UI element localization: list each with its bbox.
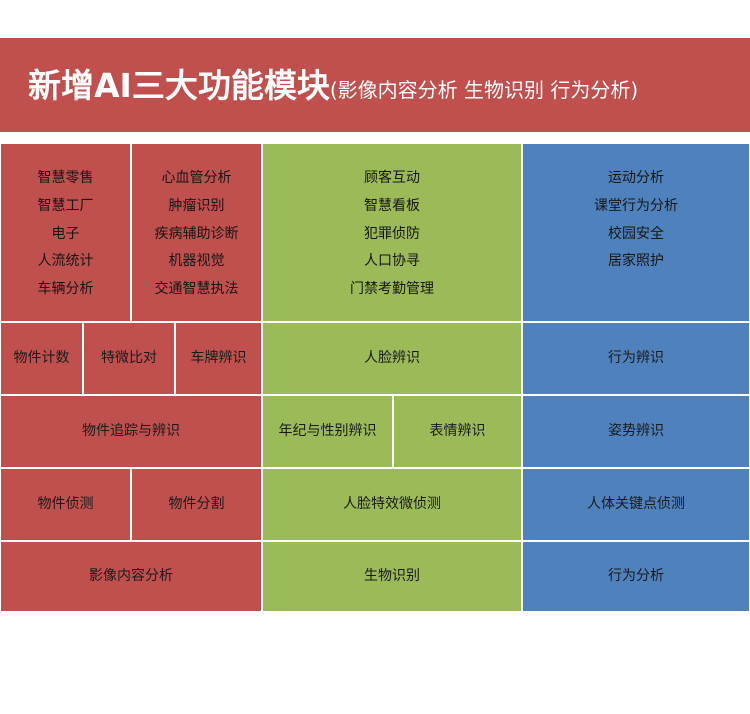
list-item: 运动分析 [608,170,664,187]
cell-face-micro-detection: 人脸特效微侦测 [262,468,522,541]
grid-row-categories: 影像内容分析 生物识别 行为分析 [0,541,750,612]
list-item: 智慧工厂 [38,198,94,215]
cell-license-plate-recognition: 车牌辨识 [175,322,262,395]
cell-object-segmentation: 物件分割 [131,468,262,541]
list-item: 门禁考勤管理 [350,281,434,298]
cell-object-detection: 物件侦测 [0,468,131,541]
cell-expression-recognition: 表情辨识 [393,395,522,468]
list-item: 车辆分析 [38,281,94,298]
segment-green-level-3: 年纪与性别辨识 表情辨识 [262,395,522,468]
cell-red-applications-col2: 心血管分析 肿瘤识别 疾病辅助诊断 机器视觉 交通智慧执法 [131,143,262,322]
segment-blue-category: 行为分析 [522,541,750,612]
header-banner: 新增AI三大功能模块 (影像内容分析 生物识别 行为分析) [0,38,750,132]
list-item: 机器视觉 [169,253,225,270]
list-item: 交通智慧执法 [155,281,239,298]
segment-green-level-4: 人脸特效微侦测 [262,468,522,541]
segment-blue-level-3: 姿势辨识 [522,395,750,468]
ai-modules-infographic: 新增AI三大功能模块 (影像内容分析 生物识别 行为分析) 智慧零售 智慧工厂 … [0,0,750,714]
segment-red-level-3: 物件追踪与辨识 [0,395,262,468]
grid-row-level-2: 物件计数 特微比对 车牌辨识 人脸辨识 行为辨识 [0,322,750,395]
modules-grid: 智慧零售 智慧工厂 电子 人流统计 车辆分析 心血管分析 肿瘤识别 疾病辅助诊断… [0,143,750,612]
list-item: 顾客互动 [364,170,420,187]
segment-red-level-4: 物件侦测 物件分割 [0,468,262,541]
cell-posture-recognition: 姿势辨识 [522,395,750,468]
segment-blue-level-2: 行为辨识 [522,322,750,395]
cell-red-applications-col1: 智慧零售 智慧工厂 电子 人流统计 车辆分析 [0,143,131,322]
cell-body-keypoint-detection: 人体关键点侦测 [522,468,750,541]
grid-row-applications: 智慧零售 智慧工厂 电子 人流统计 车辆分析 心血管分析 肿瘤识别 疾病辅助诊断… [0,143,750,322]
cell-age-gender-recognition: 年纪与性别辨识 [262,395,393,468]
category-biometric-recognition: 生物识别 [262,541,522,612]
list-item: 智慧零售 [38,170,94,187]
segment-red-level-2: 物件计数 特微比对 车牌辨识 [0,322,262,395]
segment-green-applications: 顾客互动 智慧看板 犯罪侦防 人口协寻 门禁考勤管理 [262,143,522,322]
grid-row-level-4: 物件侦测 物件分割 人脸特效微侦测 人体关键点侦测 [0,468,750,541]
cell-blue-applications: 运动分析 课堂行为分析 校园安全 居家照护 [522,143,750,322]
header-main-title: 新增AI三大功能模块 [28,69,330,102]
cell-object-tracking-recognition: 物件追踪与辨识 [0,395,262,468]
list-item: 心血管分析 [162,170,232,187]
cell-face-recognition: 人脸辨识 [262,322,522,395]
segment-red-category: 影像内容分析 [0,541,262,612]
segment-blue-applications: 运动分析 课堂行为分析 校园安全 居家照护 [522,143,750,322]
list-item: 犯罪侦防 [364,226,420,243]
category-image-content-analysis: 影像内容分析 [0,541,262,612]
list-item: 疾病辅助诊断 [155,226,239,243]
segment-green-level-2: 人脸辨识 [262,322,522,395]
list-item: 人口协寻 [364,253,420,270]
segment-red-applications: 智慧零售 智慧工厂 电子 人流统计 车辆分析 心血管分析 肿瘤识别 疾病辅助诊断… [0,143,262,322]
segment-blue-level-4: 人体关键点侦测 [522,468,750,541]
list-item: 电子 [52,226,80,243]
list-item: 智慧看板 [364,198,420,215]
list-item: 居家照护 [608,253,664,270]
header-sub-title: (影像内容分析 生物识别 行为分析) [330,80,638,100]
list-item: 校园安全 [608,226,664,243]
cell-feature-comparison: 特微比对 [83,322,175,395]
segment-green-category: 生物识别 [262,541,522,612]
cell-green-applications: 顾客互动 智慧看板 犯罪侦防 人口协寻 门禁考勤管理 [262,143,522,322]
cell-behavior-recognition: 行为辨识 [522,322,750,395]
page-title: 新增AI三大功能模块 (影像内容分析 生物识别 行为分析) [28,69,638,102]
cell-object-counting: 物件计数 [0,322,83,395]
list-item: 人流统计 [38,253,94,270]
grid-row-level-3: 物件追踪与辨识 年纪与性别辨识 表情辨识 姿势辨识 [0,395,750,468]
list-item: 肿瘤识别 [169,198,225,215]
list-item: 课堂行为分析 [594,198,678,215]
category-behavior-analysis: 行为分析 [522,541,750,612]
